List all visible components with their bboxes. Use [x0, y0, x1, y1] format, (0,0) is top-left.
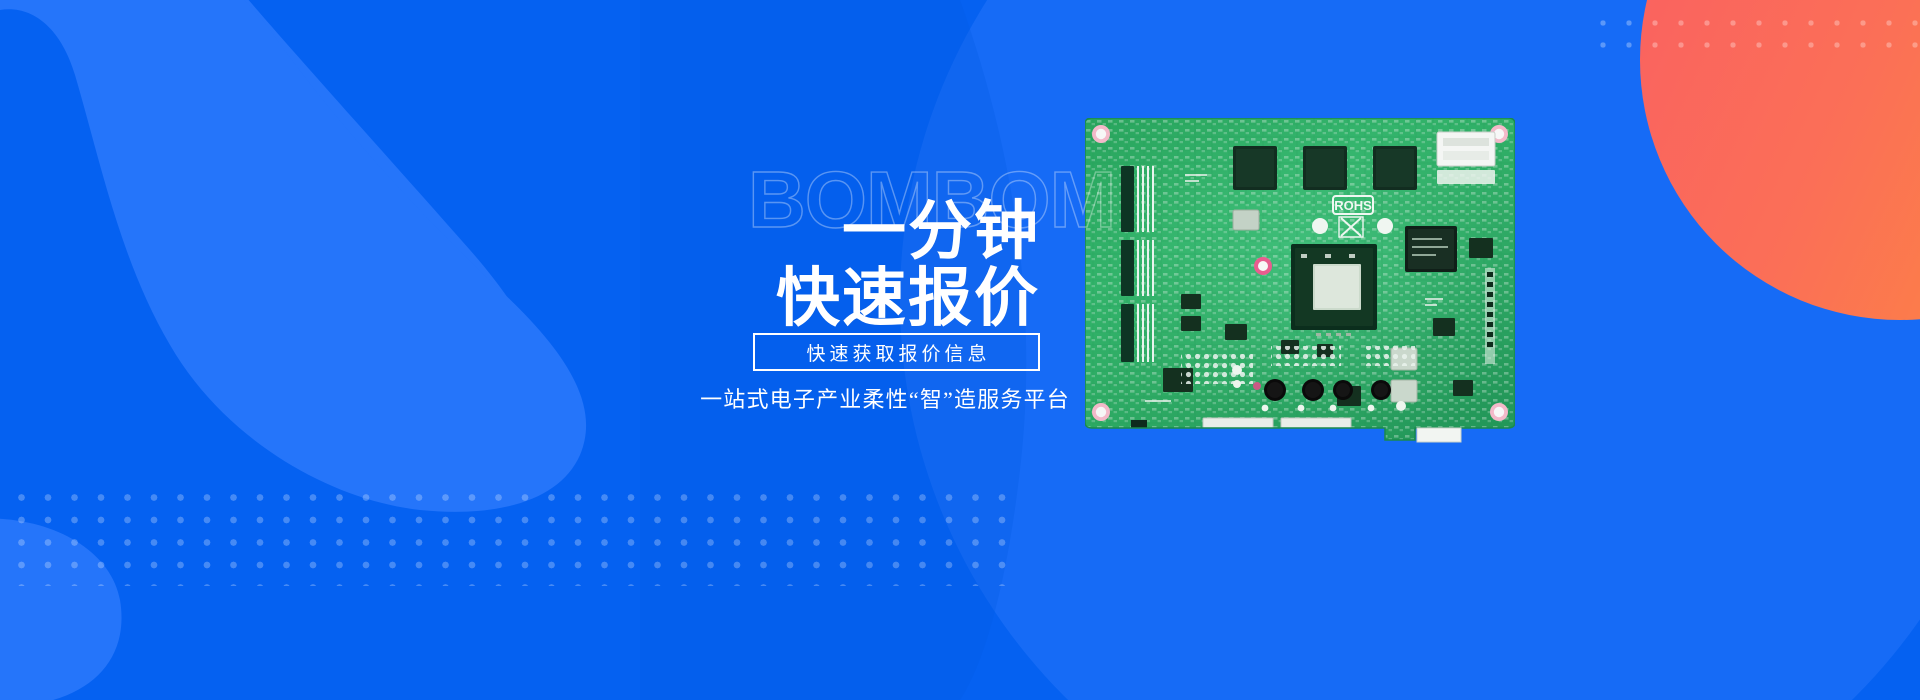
- pcb-illustration: ROHS: [1085, 118, 1515, 450]
- pcb-cpu-chip: [1291, 244, 1377, 336]
- dot-grid-top-right: [1600, 20, 1920, 60]
- pcb-board-image: ROHS: [1085, 118, 1515, 450]
- pcb-flash-chip: [1405, 226, 1457, 272]
- promo-banner: BOMBOM 一分钟 快速报价 快速获取报价信息 一站式电子产业柔性“智”造服务…: [0, 0, 1920, 700]
- pcb-memory-chips: [1233, 146, 1417, 190]
- headline-line-2: 快速报价: [640, 265, 1040, 332]
- tagline-text: 一站式电子产业柔性“智”造服务平台: [600, 382, 1070, 414]
- pcb-label-tab: [1417, 428, 1461, 442]
- pcb-pin-header: [1485, 268, 1495, 364]
- headline-line-1: 一分钟: [640, 198, 1040, 265]
- pcb-substrate: ROHS: [1085, 118, 1515, 450]
- cta-button-label: 快速获取报价信息: [802, 339, 990, 366]
- cta-button[interactable]: 快速获取报价信息: [753, 333, 1040, 371]
- headline-block: 一分钟 快速报价: [640, 198, 1040, 331]
- pcb-card-slot: [1437, 132, 1495, 184]
- dot-grid-bottom-left: [18, 494, 1018, 586]
